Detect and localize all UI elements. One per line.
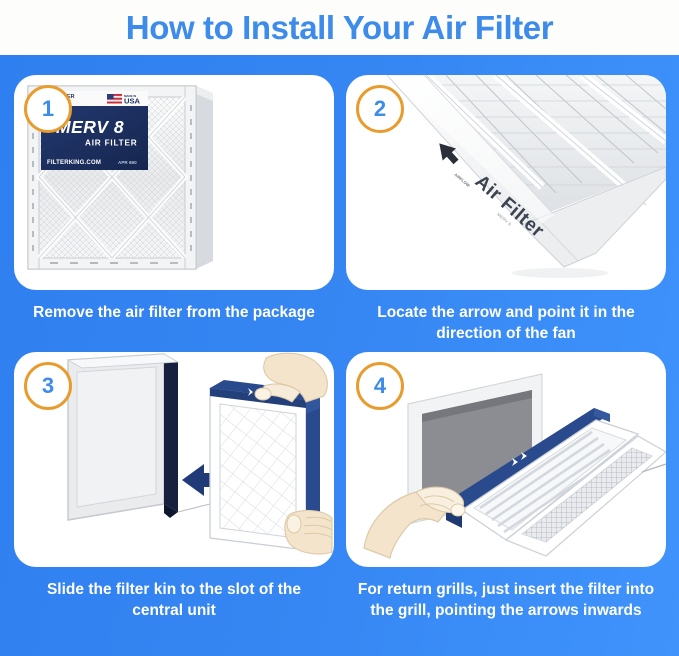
step-3-caption: Slide the filter kin to the slot of the … <box>22 580 326 621</box>
filter-side-face <box>196 86 213 269</box>
blue-background-board: FILTER KING MADE <box>0 55 679 656</box>
svg-text:APR 650: APR 650 <box>118 160 137 165</box>
page-title: How to Install Your Air Filter <box>126 9 553 47</box>
central-unit-slot <box>68 354 178 520</box>
step-3-number: 3 <box>42 373 54 399</box>
steps-grid: FILTER KING MADE <box>0 55 679 656</box>
step-2-number: 2 <box>374 96 386 122</box>
step-3-badge: 3 <box>24 362 72 410</box>
step-4-badge: 4 <box>356 362 404 410</box>
step-4: 4 For return grills, just insert the fil… <box>346 352 666 642</box>
step-1: FILTER KING MADE <box>14 75 334 340</box>
svg-text:AIR FILTER: AIR FILTER <box>85 139 137 148</box>
step-1-badge: 1 <box>24 85 72 133</box>
svg-text:FILTERKING.COM: FILTERKING.COM <box>47 160 101 166</box>
infographic-root: How to Install Your Air Filter <box>0 0 679 656</box>
step-1-caption: Remove the air filter from the package <box>14 303 334 324</box>
svg-text:USA: USA <box>124 97 141 106</box>
alignment-guide-line <box>178 504 210 512</box>
step-3: 3 Slide the filter kin to the slot of th… <box>14 352 334 642</box>
step-4-caption: For return grills, just insert the filte… <box>354 580 658 621</box>
airflow-small-label: AIRFLOW <box>453 172 471 188</box>
step-2-caption: Locate the arrow and point it in the dir… <box>354 303 658 344</box>
header-band: How to Install Your Air Filter <box>0 0 679 55</box>
step-2-badge: 2 <box>356 85 404 133</box>
step-4-number: 4 <box>374 373 386 399</box>
step-1-number: 1 <box>42 96 54 122</box>
upper-hand <box>255 353 327 402</box>
step-2: AIRFLOW Air Filter MERV 8 2 <box>346 75 666 340</box>
